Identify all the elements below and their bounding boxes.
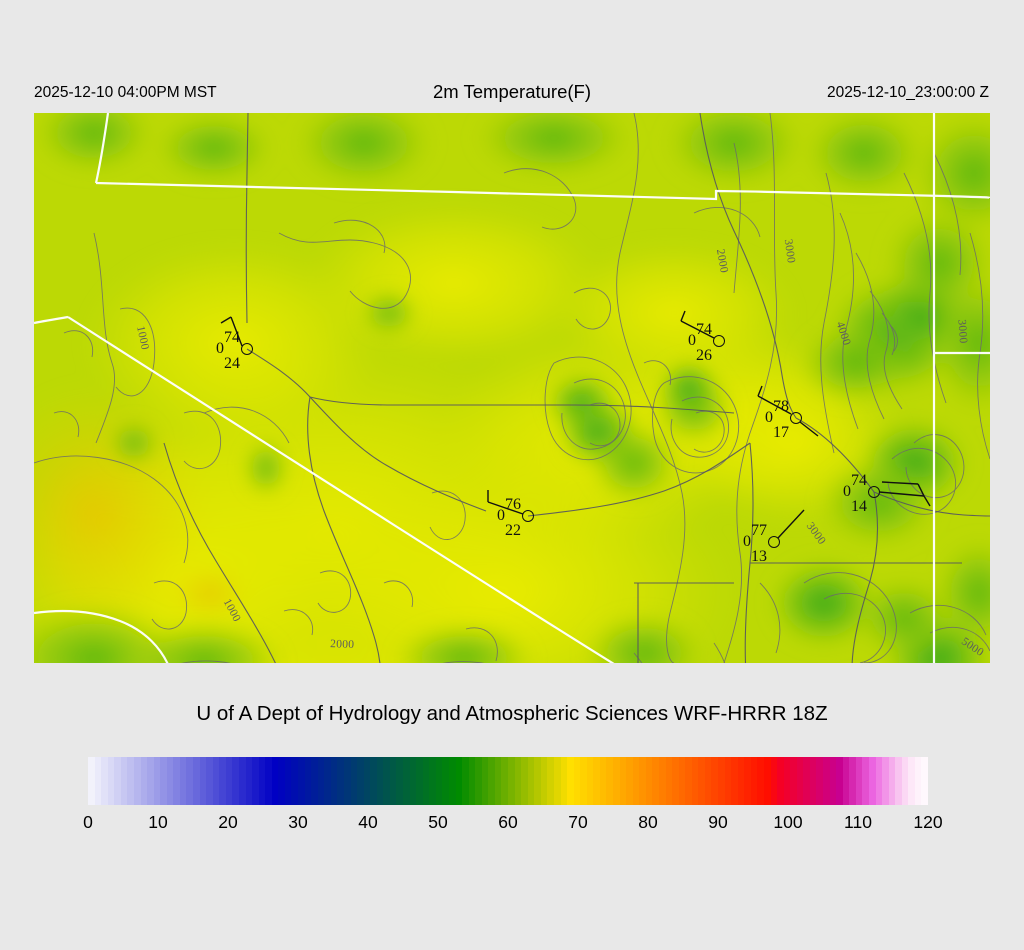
colorbar-tick-0: 0 bbox=[83, 812, 93, 833]
station-marker bbox=[522, 510, 534, 522]
station-pressure: 0 bbox=[765, 409, 773, 427]
station-temperature: 74 bbox=[696, 321, 712, 339]
station-temperature: 74 bbox=[851, 472, 867, 490]
station-temperature: 76 bbox=[505, 496, 521, 514]
colorbar-tick-40: 40 bbox=[358, 812, 377, 833]
colorbar-tick-50: 50 bbox=[428, 812, 447, 833]
figure-caption: U of A Dept of Hydrology and Atmospheric… bbox=[0, 702, 1024, 726]
station-pressure: 0 bbox=[497, 507, 505, 525]
header: 2025-12-10 04:00PM MST 2m Temperature(F)… bbox=[0, 84, 1024, 110]
colorbar-tick-10: 10 bbox=[148, 812, 167, 833]
colorbar-tick-100: 100 bbox=[773, 812, 802, 833]
station-temperature: 78 bbox=[773, 398, 789, 416]
station-temperature: 77 bbox=[751, 522, 767, 540]
utc-time-label: 2025-12-10_23:00:00 Z bbox=[827, 84, 989, 102]
colorbar-tick-70: 70 bbox=[568, 812, 587, 833]
contour-label-2000-sw: 2000 bbox=[330, 638, 355, 651]
station-pressure: 0 bbox=[688, 332, 696, 350]
station-dewpoint: 24 bbox=[224, 355, 240, 373]
colorbar-tick-110: 110 bbox=[844, 812, 872, 833]
station-temperature: 74 bbox=[224, 329, 240, 347]
colorbar-gradient bbox=[88, 757, 928, 805]
station-marker bbox=[713, 335, 725, 347]
temperature-map[interactable]: 1000 1000 2000 2000 3000 4000 3000 4000 … bbox=[34, 113, 990, 663]
station-dewpoint: 26 bbox=[696, 347, 712, 365]
station-marker bbox=[868, 486, 880, 498]
colorbar-tick-30: 30 bbox=[288, 812, 307, 833]
colorbar-tick-labels: 0102030405060708090100110120 bbox=[88, 812, 928, 838]
colorbar-tick-80: 80 bbox=[638, 812, 657, 833]
contour-label-3000-east: 3000 bbox=[955, 319, 969, 344]
station-pressure: 0 bbox=[843, 483, 851, 501]
map-graphics bbox=[34, 113, 990, 663]
station-marker bbox=[241, 343, 253, 355]
colorbar-tick-120: 120 bbox=[913, 812, 942, 833]
colorbar-tick-20: 20 bbox=[218, 812, 237, 833]
station-pressure: 0 bbox=[216, 340, 224, 358]
colorbar-cell-127 bbox=[921, 757, 928, 805]
station-pressure: 0 bbox=[743, 533, 751, 551]
colorbar-tick-90: 90 bbox=[708, 812, 727, 833]
colorbar-tick-60: 60 bbox=[498, 812, 517, 833]
colorbar[interactable] bbox=[88, 757, 928, 805]
station-marker bbox=[790, 412, 802, 424]
station-dewpoint: 14 bbox=[851, 498, 867, 516]
station-marker bbox=[768, 536, 780, 548]
station-dewpoint: 17 bbox=[773, 424, 789, 442]
station-dewpoint: 13 bbox=[751, 548, 767, 566]
station-dewpoint: 22 bbox=[505, 522, 521, 540]
